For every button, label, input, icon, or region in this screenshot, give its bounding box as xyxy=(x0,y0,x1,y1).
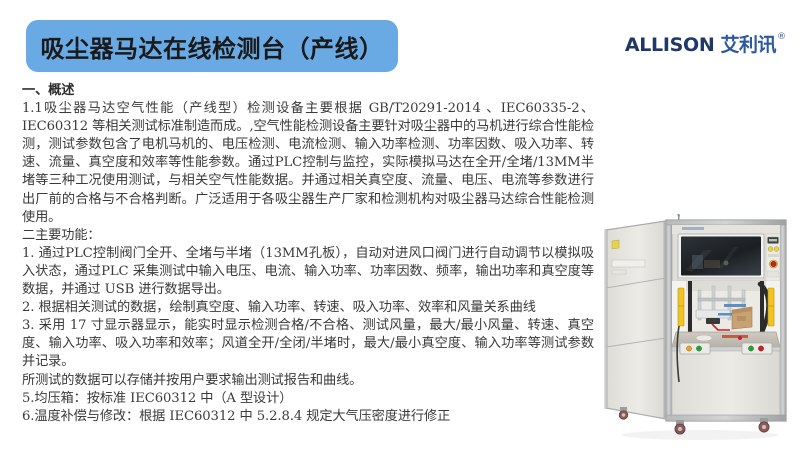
paragraph-function-2: 2. 根据相关测试的数据，绘制真空度、输入功率、转速、吸入功率、效率和风量关系曲… xyxy=(22,299,594,317)
slide-canvas: 吸尘器马达在线检测台（产线） ALLISON 艾利讯 ® 一、概述 1.1吸尘器… xyxy=(0,0,800,450)
button-yellow-1 xyxy=(768,247,773,252)
button-amber-left xyxy=(686,346,691,351)
chamber-post-left xyxy=(688,281,692,337)
section-functions-heading: 二主要功能： xyxy=(22,227,594,245)
lower-front-door xyxy=(672,347,780,417)
machine-photo xyxy=(600,214,800,446)
paragraph-function-5: 5.均压箱：按标准 IEC60312 中（A 型设计） xyxy=(22,390,594,408)
frame-post-left xyxy=(666,220,672,421)
logo-chinese-text: 艾利讯 xyxy=(720,36,776,55)
operator-button-box-left xyxy=(680,343,710,354)
safety-light-curtain-right xyxy=(768,288,774,326)
title-banner: 吸尘器马达在线检测台（产线） xyxy=(26,20,398,72)
button-red-right xyxy=(758,346,763,351)
content-body: 一、概述 1.1吸尘器马达空气性能（产线型）检测设备主要根据 GB/T20291… xyxy=(22,82,594,426)
section-overview-heading: 一、概述 xyxy=(22,82,594,100)
paragraph-function-6: 6.温度补偿与修改：根据 IEC60312 中 5.2.8.4 规定大气压密度进… xyxy=(22,408,594,426)
paragraph-function-1: 1. 通过PLC控制阀门全开、全堵与半堵（13MM孔板），自动对进风口阀门进行自… xyxy=(22,245,594,299)
safety-light-curtain-left xyxy=(678,288,684,326)
company-logo: ALLISON 艾利讯 ® xyxy=(625,36,786,55)
paragraph-overview: 1.1吸尘器马达空气性能（产线型）检测设备主要根据 GB/T20291-2014… xyxy=(22,100,594,227)
air-tube-blue xyxy=(724,304,746,307)
page-title: 吸尘器马达在线检测台（产线） xyxy=(41,29,384,64)
button-green-right xyxy=(748,346,753,351)
deck-red-tool xyxy=(722,335,748,338)
paragraph-function-4: 所测试的数据可以存储并按用户要求输出测试报告和曲线。 xyxy=(22,372,594,390)
frame-rail-top xyxy=(666,220,786,225)
registered-trademark-icon: ® xyxy=(777,33,786,42)
logo-latin-text: ALLISON xyxy=(625,36,715,55)
spec-label xyxy=(612,260,645,267)
fixture-gripper xyxy=(706,318,720,324)
operator-button-box-right xyxy=(742,343,772,354)
header-logo-strip xyxy=(682,227,704,230)
warning-label xyxy=(612,240,619,249)
deck-fixture-plate xyxy=(696,335,712,341)
cabinet-left-side xyxy=(606,221,666,419)
frame-post-right xyxy=(780,220,786,421)
emergency-stop-button xyxy=(771,261,776,266)
button-green-left xyxy=(696,346,701,351)
button-yellow-2 xyxy=(774,247,779,252)
paragraph-function-3: 3. 采用 17 寸显示器显示，能实时显示检测合格/不合格、测试风量，最大/最小… xyxy=(22,317,594,371)
fixture-crossbar-top xyxy=(698,298,745,301)
